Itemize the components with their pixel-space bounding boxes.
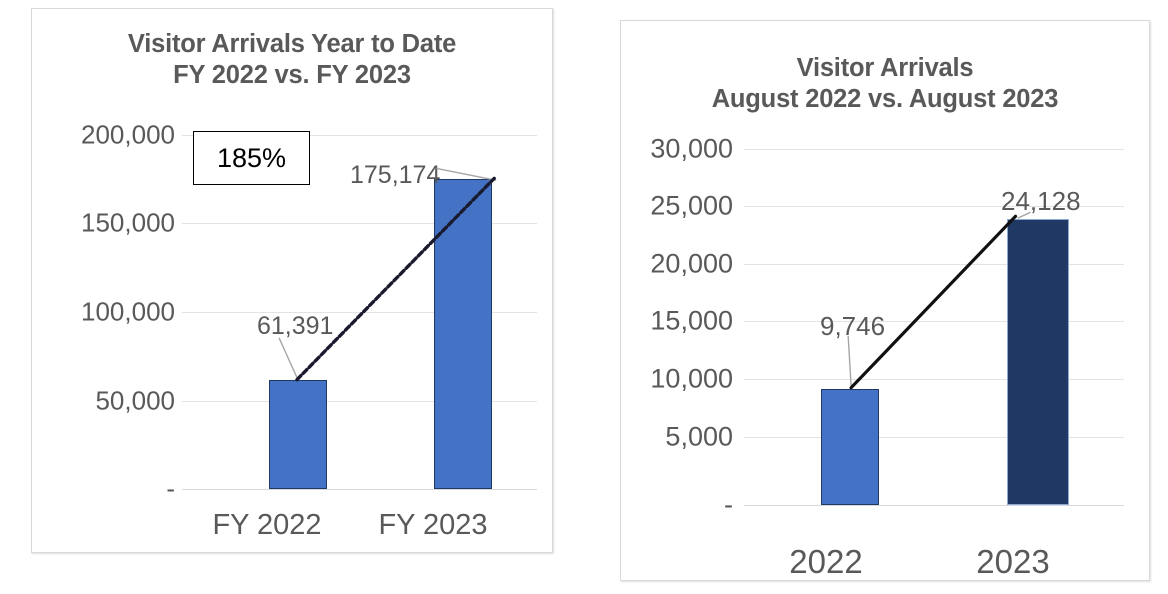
y-tick-label: 30,000 xyxy=(629,134,733,165)
x-tick-label-fy-2022: FY 2022 xyxy=(207,509,327,542)
data-label-2022: 9,746 xyxy=(820,311,885,342)
data-label-fy-2023: 175,174 xyxy=(350,161,440,190)
chart-card-year-to-date: Visitor Arrivals Year to Date FY 2022 vs… xyxy=(31,8,553,553)
x-tick-label-2023: 2023 xyxy=(948,543,1078,581)
chart-card-august: Visitor Arrivals August 2022 vs. August … xyxy=(620,20,1150,581)
data-label-fy-2022: 61,391 xyxy=(257,312,333,341)
bar-2023 xyxy=(1007,219,1069,505)
gridline xyxy=(744,149,1124,150)
y-tick-label: 200,000 xyxy=(70,120,175,151)
bar-2022 xyxy=(821,389,879,505)
y-tick-label: 10,000 xyxy=(629,364,733,395)
x-tick-label-fy-2023: FY 2023 xyxy=(373,509,493,542)
data-label-2023: 24,128 xyxy=(1001,186,1081,217)
y-tick-label: - xyxy=(629,490,733,521)
y-tick-label: 15,000 xyxy=(629,306,733,337)
chart-title-august: Visitor Arrivals August 2022 vs. August … xyxy=(621,53,1149,115)
y-tick-label: 20,000 xyxy=(629,249,733,280)
y-tick-label: 150,000 xyxy=(70,208,175,239)
bar-fy-2023 xyxy=(434,179,492,489)
x-tick-label-2022: 2022 xyxy=(761,543,891,581)
axis-baseline xyxy=(744,505,1124,506)
y-tick-label: - xyxy=(70,474,175,505)
callout-label-growth-pct: 185% xyxy=(193,131,310,185)
chart-title-year-to-date: Visitor Arrivals Year to Date FY 2022 vs… xyxy=(32,29,552,91)
y-tick-label: 100,000 xyxy=(70,297,175,328)
axis-baseline xyxy=(182,489,537,490)
y-tick-label: 25,000 xyxy=(629,191,733,222)
y-tick-label: 5,000 xyxy=(629,422,733,453)
y-tick-label: 50,000 xyxy=(70,386,175,417)
bar-fy-2022 xyxy=(269,380,327,489)
